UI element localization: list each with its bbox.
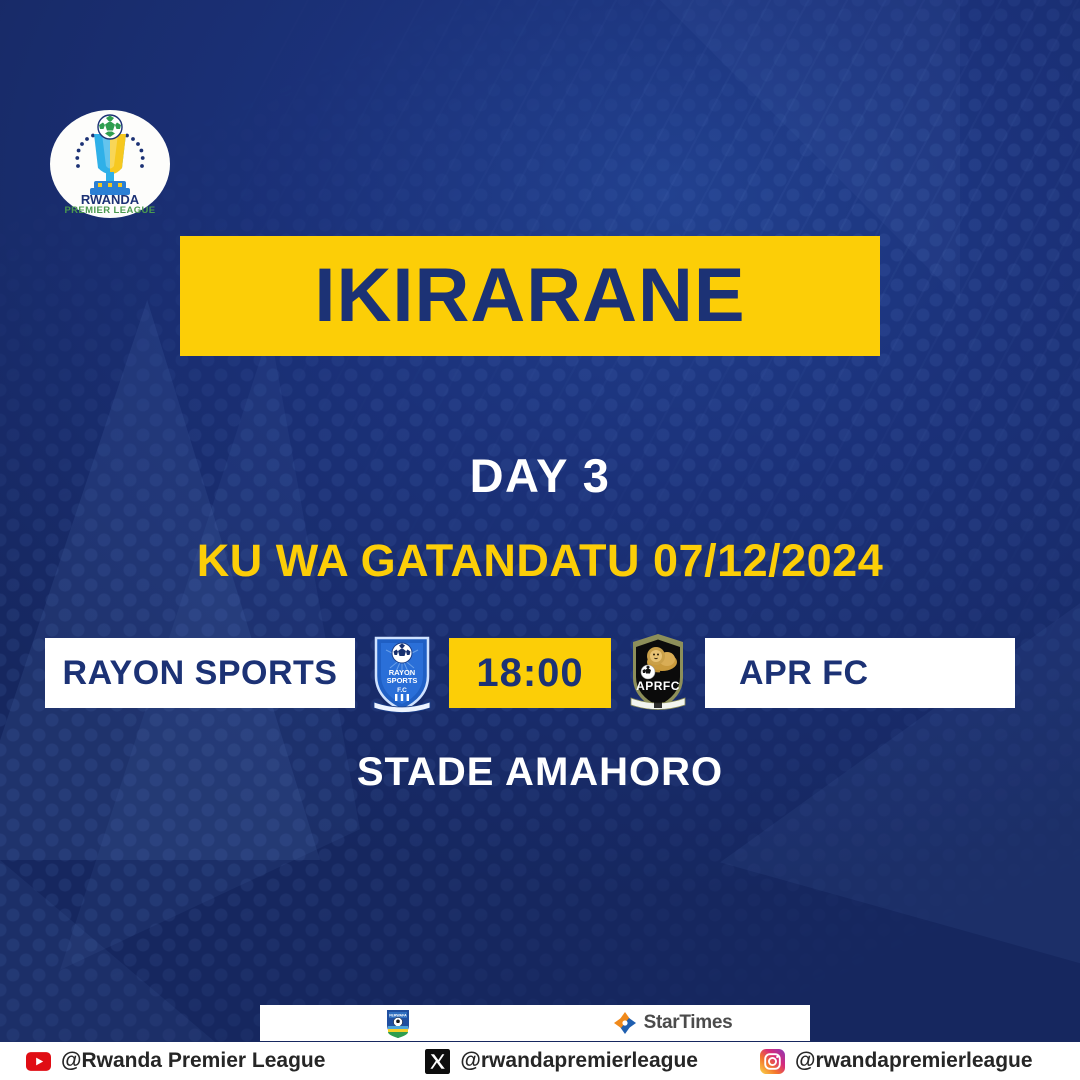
away-team-name: APR FC: [739, 654, 869, 693]
x-twitter-icon[interactable]: [425, 1049, 450, 1074]
sponsor-startimes: StarTimes: [535, 1011, 810, 1035]
svg-text:FERWAFA: FERWAFA: [389, 1014, 407, 1018]
social-youtube[interactable]: @Rwanda Premier League: [26, 1049, 325, 1074]
youtube-handle: @Rwanda Premier League: [61, 1049, 325, 1073]
svg-text:SPORTS: SPORTS: [387, 676, 418, 685]
away-team-box: APR FC: [705, 638, 1015, 708]
kickoff-time: 18:00: [476, 651, 583, 696]
title-banner: IKIRARANE: [180, 236, 880, 356]
home-team-name: RAYON SPORTS: [63, 654, 338, 693]
match-fixture-row: RAYON SPORTS RAYON: [45, 638, 1020, 708]
rayon-sports-crest: RAYON SPORTS F.C: [369, 627, 435, 719]
svg-text:F.C: F.C: [397, 687, 407, 694]
match-announcement-poster: RWANDA PREMIER LEAGUE IKIRARANE DAY 3 KU…: [0, 0, 1080, 1080]
instagram-icon[interactable]: [760, 1049, 785, 1074]
instagram-handle: @rwandapremierleague: [795, 1049, 1033, 1073]
ferwafa-logo-icon: FERWAFA: [385, 1007, 411, 1039]
match-date-label: KU WA GATANDATU 07/12/2024: [0, 535, 1080, 587]
sponsor-bar: FERWAFA StarTimes: [260, 1005, 810, 1041]
rayon-sports-crest-icon: RAYON SPORTS F.C: [370, 628, 434, 718]
social-x-twitter[interactable]: @rwandapremierleague: [425, 1049, 698, 1074]
startimes-label: StarTimes: [644, 1012, 733, 1034]
apr-fc-crest: APRFC: [625, 627, 691, 719]
apr-fc-crest-icon: APRFC: [626, 628, 690, 718]
venue-label: STADE AMAHORO: [0, 750, 1080, 795]
youtube-icon[interactable]: [26, 1049, 51, 1074]
apr-crest-text: APRFC: [636, 679, 680, 693]
rwanda-premier-league-logo: RWANDA PREMIER LEAGUE: [50, 110, 170, 218]
social-footer-bar: @Rwanda Premier League @rwandapremierlea…: [0, 1042, 1080, 1080]
startimes-logo-icon: [613, 1011, 637, 1035]
logo-line2: PREMIER LEAGUE: [64, 205, 155, 214]
page-title: IKIRARANE: [314, 258, 745, 334]
trophy-icon: RWANDA PREMIER LEAGUE: [56, 114, 164, 214]
sponsor-ferwafa: FERWAFA: [260, 1007, 535, 1039]
home-team-box: RAYON SPORTS: [45, 638, 355, 708]
x-twitter-handle: @rwandapremierleague: [460, 1049, 698, 1073]
social-instagram[interactable]: @rwandapremierleague: [760, 1049, 1033, 1074]
matchday-label: DAY 3: [0, 448, 1080, 503]
kickoff-time-box: 18:00: [449, 638, 611, 708]
